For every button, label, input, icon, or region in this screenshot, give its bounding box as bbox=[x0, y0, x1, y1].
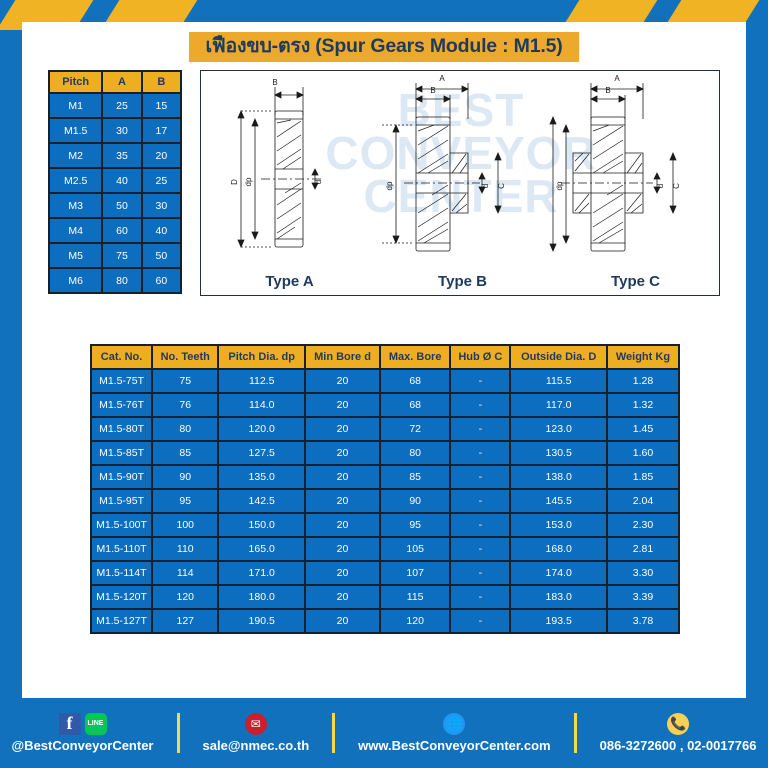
spec-table-cell: M1.5-110T bbox=[92, 538, 151, 560]
spec-table-cell: M1.5-120T bbox=[92, 586, 151, 608]
gear-diagram-frame: BEST CONVEYOR CENTER bbox=[200, 70, 720, 296]
pitch-table-cell: 25 bbox=[143, 169, 180, 192]
table-row: M1.5-127T127190.520120-193.53.78 bbox=[92, 610, 678, 632]
spec-table-cell: 142.5 bbox=[219, 490, 304, 512]
spec-header-cell: Min Bore d bbox=[306, 346, 379, 368]
footer-divider bbox=[332, 713, 335, 753]
spec-table-cell: 68 bbox=[381, 370, 449, 392]
spec-table-cell: M1.5-85T bbox=[92, 442, 151, 464]
pitch-table-cell: M6 bbox=[50, 269, 101, 292]
spec-header-cell: Weight Kg bbox=[608, 346, 678, 368]
spec-table-cell: 3.30 bbox=[608, 562, 678, 584]
spec-table-cell: 2.81 bbox=[608, 538, 678, 560]
spec-table-container: Cat. No.No. TeethPitch Dia. dpMin Bore d… bbox=[90, 344, 680, 634]
pitch-table-cell: 80 bbox=[103, 269, 140, 292]
pitch-table-cell: M2 bbox=[50, 144, 101, 167]
spec-table-cell: 20 bbox=[306, 418, 379, 440]
table-row: M1.5-75T75112.52068-115.51.28 bbox=[92, 370, 678, 392]
pitch-table-row: M2.54025 bbox=[50, 169, 180, 192]
pitch-table-cell: M3 bbox=[50, 194, 101, 217]
svg-text:d: d bbox=[656, 184, 665, 188]
spec-table-cell: 165.0 bbox=[219, 538, 304, 560]
pitch-table-row: M46040 bbox=[50, 219, 180, 242]
svg-text:B: B bbox=[430, 86, 435, 95]
spec-table-cell: 85 bbox=[381, 466, 449, 488]
spec-table-cell: - bbox=[451, 466, 509, 488]
phone-numbers[interactable]: 086-3272600 , 02-0017766 bbox=[600, 738, 757, 753]
page-title-container: เฟืองขบ-ตรง (Spur Gears Module : M1.5) bbox=[22, 32, 746, 62]
spec-table-cell: - bbox=[451, 490, 509, 512]
footer-website: 🌐 www.BestConveyorCenter.com bbox=[358, 713, 550, 753]
pitch-table-row: M57550 bbox=[50, 244, 180, 267]
svg-text:d: d bbox=[481, 184, 490, 188]
spec-table-cell: 75 bbox=[153, 370, 217, 392]
table-row: M1.5-90T90135.02085-138.01.85 bbox=[92, 466, 678, 488]
line-icon[interactable]: LINE bbox=[85, 713, 107, 735]
spec-table-cell: - bbox=[451, 514, 509, 536]
diagram-type-b: A B dp d C Type B bbox=[376, 71, 549, 296]
svg-text:dp: dp bbox=[555, 181, 564, 190]
spec-table: Cat. No.No. TeethPitch Dia. dpMin Bore d… bbox=[90, 344, 680, 634]
spec-table-cell: 114.0 bbox=[219, 394, 304, 416]
pitch-header-cell: A bbox=[103, 72, 140, 92]
svg-text:d: d bbox=[314, 180, 323, 184]
diagram-type-c: A B D dp d C Type C bbox=[549, 71, 720, 296]
email-address[interactable]: sale@nmec.co.th bbox=[203, 738, 310, 753]
spec-table-cell: - bbox=[451, 442, 509, 464]
table-row: M1.5-95T95142.52090-145.52.04 bbox=[92, 490, 678, 512]
facebook-icon[interactable]: f bbox=[59, 713, 81, 735]
spec-table-cell: 90 bbox=[153, 466, 217, 488]
svg-text:B: B bbox=[605, 86, 610, 95]
spec-table-cell: 1.32 bbox=[608, 394, 678, 416]
pitch-header-cell: B bbox=[143, 72, 180, 92]
pitch-table-cell: 15 bbox=[143, 94, 180, 117]
svg-text:C: C bbox=[497, 183, 506, 189]
pitch-table-cell: 17 bbox=[143, 119, 180, 142]
pitch-header-cell: Pitch bbox=[50, 72, 101, 92]
spec-table-cell: 20 bbox=[306, 394, 379, 416]
svg-text:D: D bbox=[230, 179, 239, 185]
svg-text:B: B bbox=[272, 78, 277, 87]
spec-table-cell: 85 bbox=[153, 442, 217, 464]
spec-header-cell: Cat. No. bbox=[92, 346, 151, 368]
spec-table-cell: 20 bbox=[306, 562, 379, 584]
spec-table-cell: 115 bbox=[381, 586, 449, 608]
type-a-label: Type A bbox=[203, 273, 376, 290]
pitch-table-cell: 50 bbox=[143, 244, 180, 267]
spec-table-cell: M1.5-127T bbox=[92, 610, 151, 632]
spec-table-cell: 90 bbox=[381, 490, 449, 512]
spec-table-cell: 20 bbox=[306, 466, 379, 488]
page-title: เฟืองขบ-ตรง (Spur Gears Module : M1.5) bbox=[189, 32, 578, 62]
spec-table-cell: 135.0 bbox=[219, 466, 304, 488]
svg-text:A: A bbox=[614, 74, 620, 83]
type-b-label: Type B bbox=[376, 273, 549, 290]
spec-table-cell: 20 bbox=[306, 442, 379, 464]
spec-table-cell: - bbox=[451, 538, 509, 560]
spec-table-cell: 190.5 bbox=[219, 610, 304, 632]
pitch-table-cell: 30 bbox=[103, 119, 140, 142]
pitch-table-cell: 60 bbox=[143, 269, 180, 292]
type-c-label: Type C bbox=[549, 273, 720, 290]
table-row: M1.5-110T110165.020105-168.02.81 bbox=[92, 538, 678, 560]
spec-header-row: Cat. No.No. TeethPitch Dia. dpMin Bore d… bbox=[92, 346, 678, 368]
spec-table-cell: 168.0 bbox=[511, 538, 605, 560]
spec-table-cell: 1.45 bbox=[608, 418, 678, 440]
table-row: M1.5-114T114171.020107-174.03.30 bbox=[92, 562, 678, 584]
spec-table-cell: 2.04 bbox=[608, 490, 678, 512]
spec-table-cell: 123.0 bbox=[511, 418, 605, 440]
pitch-reference-table: Pitch A B M12515M1.53017M23520M2.54025M3… bbox=[48, 70, 182, 294]
spec-table-cell: 107 bbox=[381, 562, 449, 584]
diagram-type-a: B D dp d Type A bbox=[203, 71, 376, 296]
pitch-table-body: M12515M1.53017M23520M2.54025M35030M46040… bbox=[50, 94, 180, 292]
spec-table-cell: 68 bbox=[381, 394, 449, 416]
spec-table-cell: 20 bbox=[306, 490, 379, 512]
table-row: M1.5-76T76114.02068-117.01.32 bbox=[92, 394, 678, 416]
spec-table-cell: M1.5-90T bbox=[92, 466, 151, 488]
pitch-table-cell: 30 bbox=[143, 194, 180, 217]
spec-table-cell: 117.0 bbox=[511, 394, 605, 416]
spec-table-cell: - bbox=[451, 610, 509, 632]
pitch-table-row: M35030 bbox=[50, 194, 180, 217]
pitch-table-header-row: Pitch A B bbox=[50, 72, 180, 92]
spec-table-cell: 120 bbox=[381, 610, 449, 632]
phone-icon[interactable]: 📞 bbox=[667, 713, 689, 735]
pitch-table-cell: 60 bbox=[103, 219, 140, 242]
spec-table-cell: 80 bbox=[381, 442, 449, 464]
pitch-table-cell: M1 bbox=[50, 94, 101, 117]
spec-table-cell: M1.5-75T bbox=[92, 370, 151, 392]
spec-table-cell: 3.39 bbox=[608, 586, 678, 608]
svg-text:dp: dp bbox=[244, 177, 253, 186]
mail-icon[interactable]: ✉ bbox=[245, 713, 267, 735]
spec-table-cell: 110 bbox=[153, 538, 217, 560]
svg-text:C: C bbox=[672, 183, 681, 189]
spec-header-cell: Outside Dia. D bbox=[511, 346, 605, 368]
pitch-table-cell: M1.5 bbox=[50, 119, 101, 142]
pitch-table-row: M1.53017 bbox=[50, 119, 180, 142]
top-section: Pitch A B M12515M1.53017M23520M2.54025M3… bbox=[48, 70, 720, 298]
spec-table-cell: 72 bbox=[381, 418, 449, 440]
pitch-table-cell: M4 bbox=[50, 219, 101, 242]
spec-table-cell: M1.5-100T bbox=[92, 514, 151, 536]
spec-table-cell: 171.0 bbox=[219, 562, 304, 584]
spec-table-cell: 80 bbox=[153, 418, 217, 440]
spec-table-cell: M1.5-95T bbox=[92, 490, 151, 512]
content-panel: เฟืองขบ-ตรง (Spur Gears Module : M1.5) P… bbox=[22, 22, 746, 698]
spec-table-cell: - bbox=[451, 370, 509, 392]
table-row: M1.5-80T80120.02072-123.01.45 bbox=[92, 418, 678, 440]
spec-table-cell: 1.60 bbox=[608, 442, 678, 464]
footer-phone: 📞 086-3272600 , 02-0017766 bbox=[600, 713, 757, 753]
spec-table-cell: 100 bbox=[153, 514, 217, 536]
footer-divider bbox=[177, 713, 180, 753]
table-row: M1.5-100T100150.02095-153.02.30 bbox=[92, 514, 678, 536]
pitch-table-cell: M2.5 bbox=[50, 169, 101, 192]
spec-table-cell: 120 bbox=[153, 586, 217, 608]
spec-table-cell: 2.30 bbox=[608, 514, 678, 536]
spec-header-cell: Pitch Dia. dp bbox=[219, 346, 304, 368]
pitch-table-cell: 20 bbox=[143, 144, 180, 167]
spec-table-cell: 95 bbox=[153, 490, 217, 512]
spec-table-cell: M1.5-76T bbox=[92, 394, 151, 416]
pitch-table-cell: 50 bbox=[103, 194, 140, 217]
pitch-table-row: M23520 bbox=[50, 144, 180, 167]
spec-table-cell: 180.0 bbox=[219, 586, 304, 608]
svg-text:dp: dp bbox=[385, 181, 394, 190]
spec-table-cell: M1.5-80T bbox=[92, 418, 151, 440]
website-url[interactable]: www.BestConveyorCenter.com bbox=[358, 738, 550, 753]
spec-table-cell: 145.5 bbox=[511, 490, 605, 512]
spec-table-cell: 127 bbox=[153, 610, 217, 632]
spec-table-cell: - bbox=[451, 418, 509, 440]
footer-divider bbox=[574, 713, 577, 753]
gear-diagrams: B D dp d Type A bbox=[201, 71, 720, 296]
spec-table-cell: 183.0 bbox=[511, 586, 605, 608]
spec-table-cell: 3.78 bbox=[608, 610, 678, 632]
pitch-table-cell: 75 bbox=[103, 244, 140, 267]
spec-header-cell: Max. Bore bbox=[381, 346, 449, 368]
pitch-table-row: M68060 bbox=[50, 269, 180, 292]
pitch-table-cell: 40 bbox=[103, 169, 140, 192]
social-icons: f LINE bbox=[59, 713, 107, 735]
spec-header-cell: Hub Ø C bbox=[451, 346, 509, 368]
spec-table-cell: 1.28 bbox=[608, 370, 678, 392]
spec-table-cell: 20 bbox=[306, 370, 379, 392]
pitch-table-cell: 40 bbox=[143, 219, 180, 242]
spec-table-cell: 112.5 bbox=[219, 370, 304, 392]
spec-table-cell: 174.0 bbox=[511, 562, 605, 584]
spec-table-cell: 138.0 bbox=[511, 466, 605, 488]
spec-table-cell: 105 bbox=[381, 538, 449, 560]
spec-table-cell: 153.0 bbox=[511, 514, 605, 536]
spec-table-cell: 114 bbox=[153, 562, 217, 584]
spec-table-cell: M1.5-114T bbox=[92, 562, 151, 584]
spec-table-cell: 76 bbox=[153, 394, 217, 416]
pitch-table-cell: M5 bbox=[50, 244, 101, 267]
spec-table-cell: 20 bbox=[306, 610, 379, 632]
spec-table-body: M1.5-75T75112.52068-115.51.28M1.5-76T761… bbox=[92, 370, 678, 632]
spec-table-cell: - bbox=[451, 586, 509, 608]
footer-social: f LINE @BestConveyorCenter bbox=[12, 713, 154, 753]
spec-table-cell: 20 bbox=[306, 514, 379, 536]
spec-table-cell: 20 bbox=[306, 538, 379, 560]
spec-table-cell: 115.5 bbox=[511, 370, 605, 392]
spec-table-cell: 130.5 bbox=[511, 442, 605, 464]
svg-text:A: A bbox=[439, 74, 445, 83]
social-handle[interactable]: @BestConveyorCenter bbox=[12, 738, 154, 753]
spec-table-cell: 193.5 bbox=[511, 610, 605, 632]
spec-table-cell: 120.0 bbox=[219, 418, 304, 440]
spec-table-cell: 1.85 bbox=[608, 466, 678, 488]
svg-text:D: D bbox=[549, 183, 551, 189]
table-row: M1.5-85T85127.52080-130.51.60 bbox=[92, 442, 678, 464]
footer-contact-bar: f LINE @BestConveyorCenter ✉ sale@nmec.c… bbox=[0, 698, 768, 768]
pitch-table-cell: 35 bbox=[103, 144, 140, 167]
footer-email: ✉ sale@nmec.co.th bbox=[203, 713, 310, 753]
spec-table-cell: - bbox=[451, 562, 509, 584]
spec-table-cell: 127.5 bbox=[219, 442, 304, 464]
globe-icon[interactable]: 🌐 bbox=[443, 713, 465, 735]
spec-table-cell: 95 bbox=[381, 514, 449, 536]
spec-header-cell: No. Teeth bbox=[153, 346, 217, 368]
spec-table-cell: 20 bbox=[306, 586, 379, 608]
pitch-table-cell: 25 bbox=[103, 94, 140, 117]
spec-table-head: Cat. No.No. TeethPitch Dia. dpMin Bore d… bbox=[92, 346, 678, 368]
table-row: M1.5-120T120180.020115-183.03.39 bbox=[92, 586, 678, 608]
pitch-table-row: M12515 bbox=[50, 94, 180, 117]
spec-table-cell: 150.0 bbox=[219, 514, 304, 536]
spec-table-cell: - bbox=[451, 394, 509, 416]
